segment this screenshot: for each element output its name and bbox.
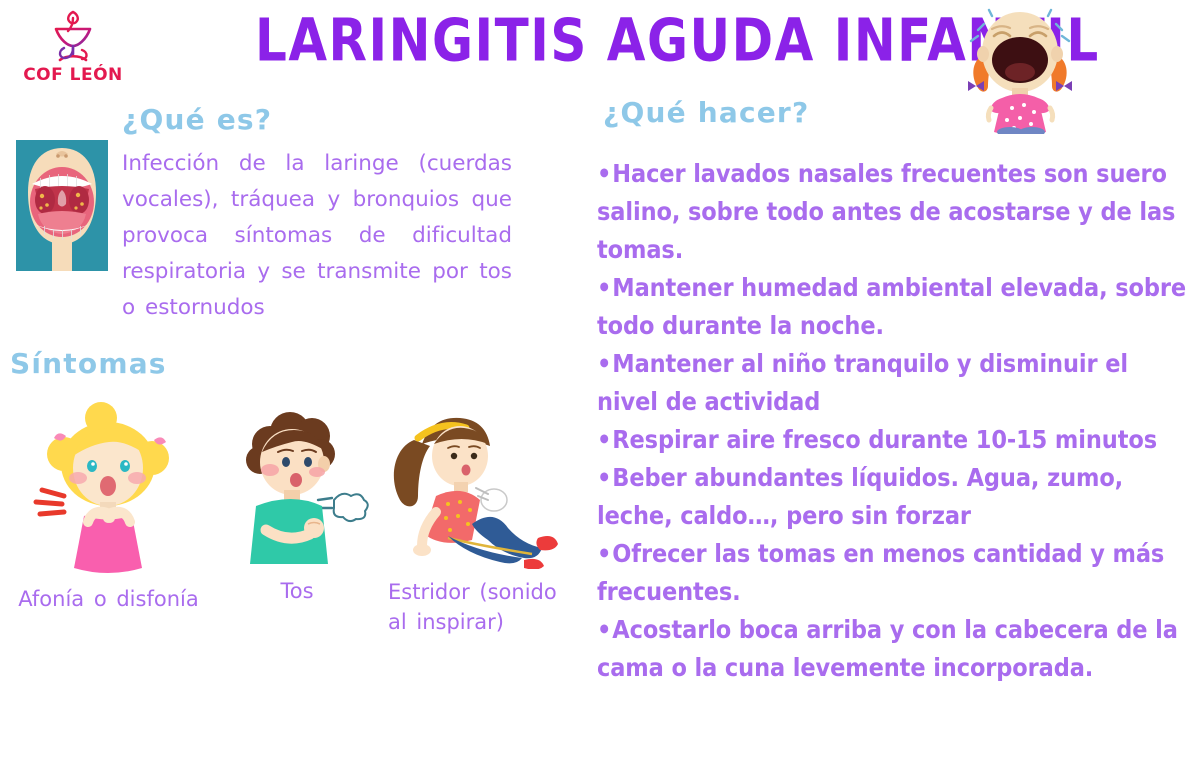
tip-item: Respirar aire fresco durante 10-15 minut… (597, 421, 1187, 459)
infographic-poster: COF LEÓN LARINGITIS AGUDA INFANTIL (0, 0, 1200, 761)
symptom-caption: Afonía o disfonía (6, 584, 211, 614)
logo-text: COF LEÓN (18, 67, 128, 84)
inflamed-throat-illustration (16, 140, 108, 271)
symptom-item-afonia: Afonía o disfonía (6, 398, 211, 614)
que-es-body-text: Infección de la laringe (cuerdas vocales… (122, 146, 512, 326)
section-heading-que-es: ¿Qué es? (122, 104, 272, 136)
bowl-of-hygieia-icon (42, 8, 104, 66)
tip-item: Acostarlo boca arriba y con la cabecera … (597, 611, 1187, 687)
tip-item: Mantener humedad ambiental elevada, sobr… (597, 269, 1187, 345)
tip-item: Beber abundantes líquidos. Agua, zumo, l… (597, 459, 1187, 535)
symptom-item-estridor: Estridor (sonido al inspirar) (378, 404, 573, 637)
symptom-caption: Tos (222, 576, 372, 606)
boy-coughing-illustration (222, 404, 372, 564)
symptom-caption: Estridor (sonido al inspirar) (378, 577, 573, 637)
que-hacer-tips-list: Hacer lavados nasales frecuentes son sue… (597, 155, 1187, 687)
symptom-item-tos: Tos (222, 404, 372, 606)
girl-sitting-breathing-illustration (378, 404, 573, 569)
section-heading-que-hacer: ¿Qué hacer? (603, 97, 809, 129)
crying-child-illustration (962, 2, 1078, 134)
cof-leon-logo: COF LEÓN (18, 8, 128, 84)
section-heading-sintomas: Síntomas (10, 348, 167, 380)
page-title: LARINGITIS AGUDA INFANTIL (255, 6, 955, 74)
girl-hoarse-voice-illustration (6, 398, 211, 578)
tip-item: Ofrecer las tomas en menos cantidad y má… (597, 535, 1187, 611)
tip-item: Hacer lavados nasales frecuentes son sue… (597, 155, 1187, 269)
tip-item: Mantener al niño tranquilo y disminuir e… (597, 345, 1187, 421)
